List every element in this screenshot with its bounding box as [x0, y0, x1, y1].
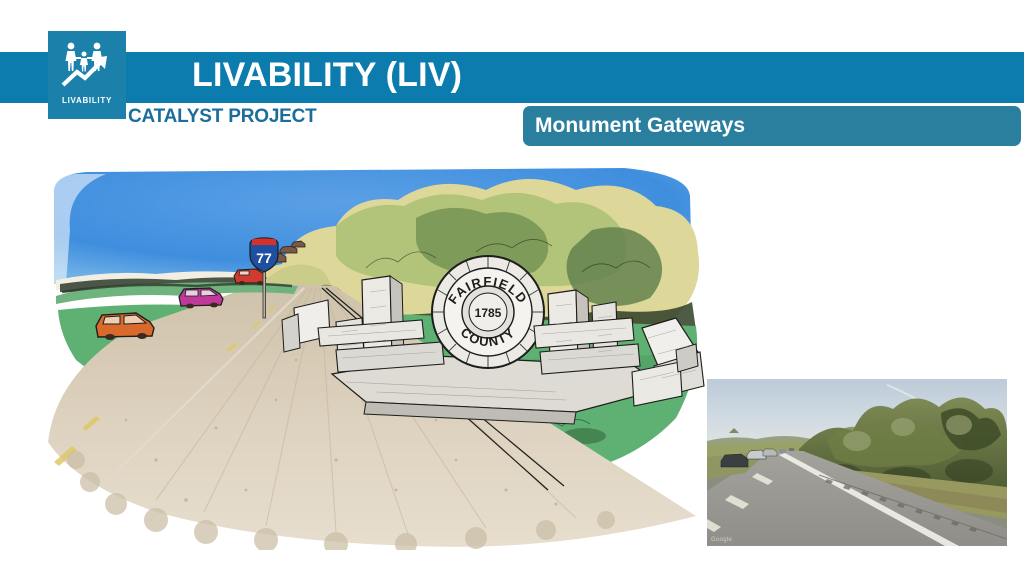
header-accent-bar — [0, 52, 1024, 103]
concept-rendering-illustration: 77 — [36, 160, 716, 550]
seal-year: 1785 — [475, 306, 502, 320]
county-seal: FAIRFIELD COUNTY 1785 — [432, 256, 544, 368]
page-title: LIVABILITY (LIV) — [192, 56, 462, 95]
site-photo: Google — [707, 379, 1007, 546]
family-growth-arrow-icon — [57, 39, 117, 89]
section-banner: Monument Gateways — [523, 106, 1021, 146]
svg-text:77: 77 — [256, 250, 272, 266]
section-banner-label: Monument Gateways — [535, 114, 745, 138]
page-subtitle: CATALYST PROJECT — [128, 106, 317, 128]
photo-watermark: Google — [711, 537, 732, 543]
livability-logo: LIVABILITY — [48, 31, 126, 119]
logo-caption: LIVABILITY — [48, 96, 126, 105]
